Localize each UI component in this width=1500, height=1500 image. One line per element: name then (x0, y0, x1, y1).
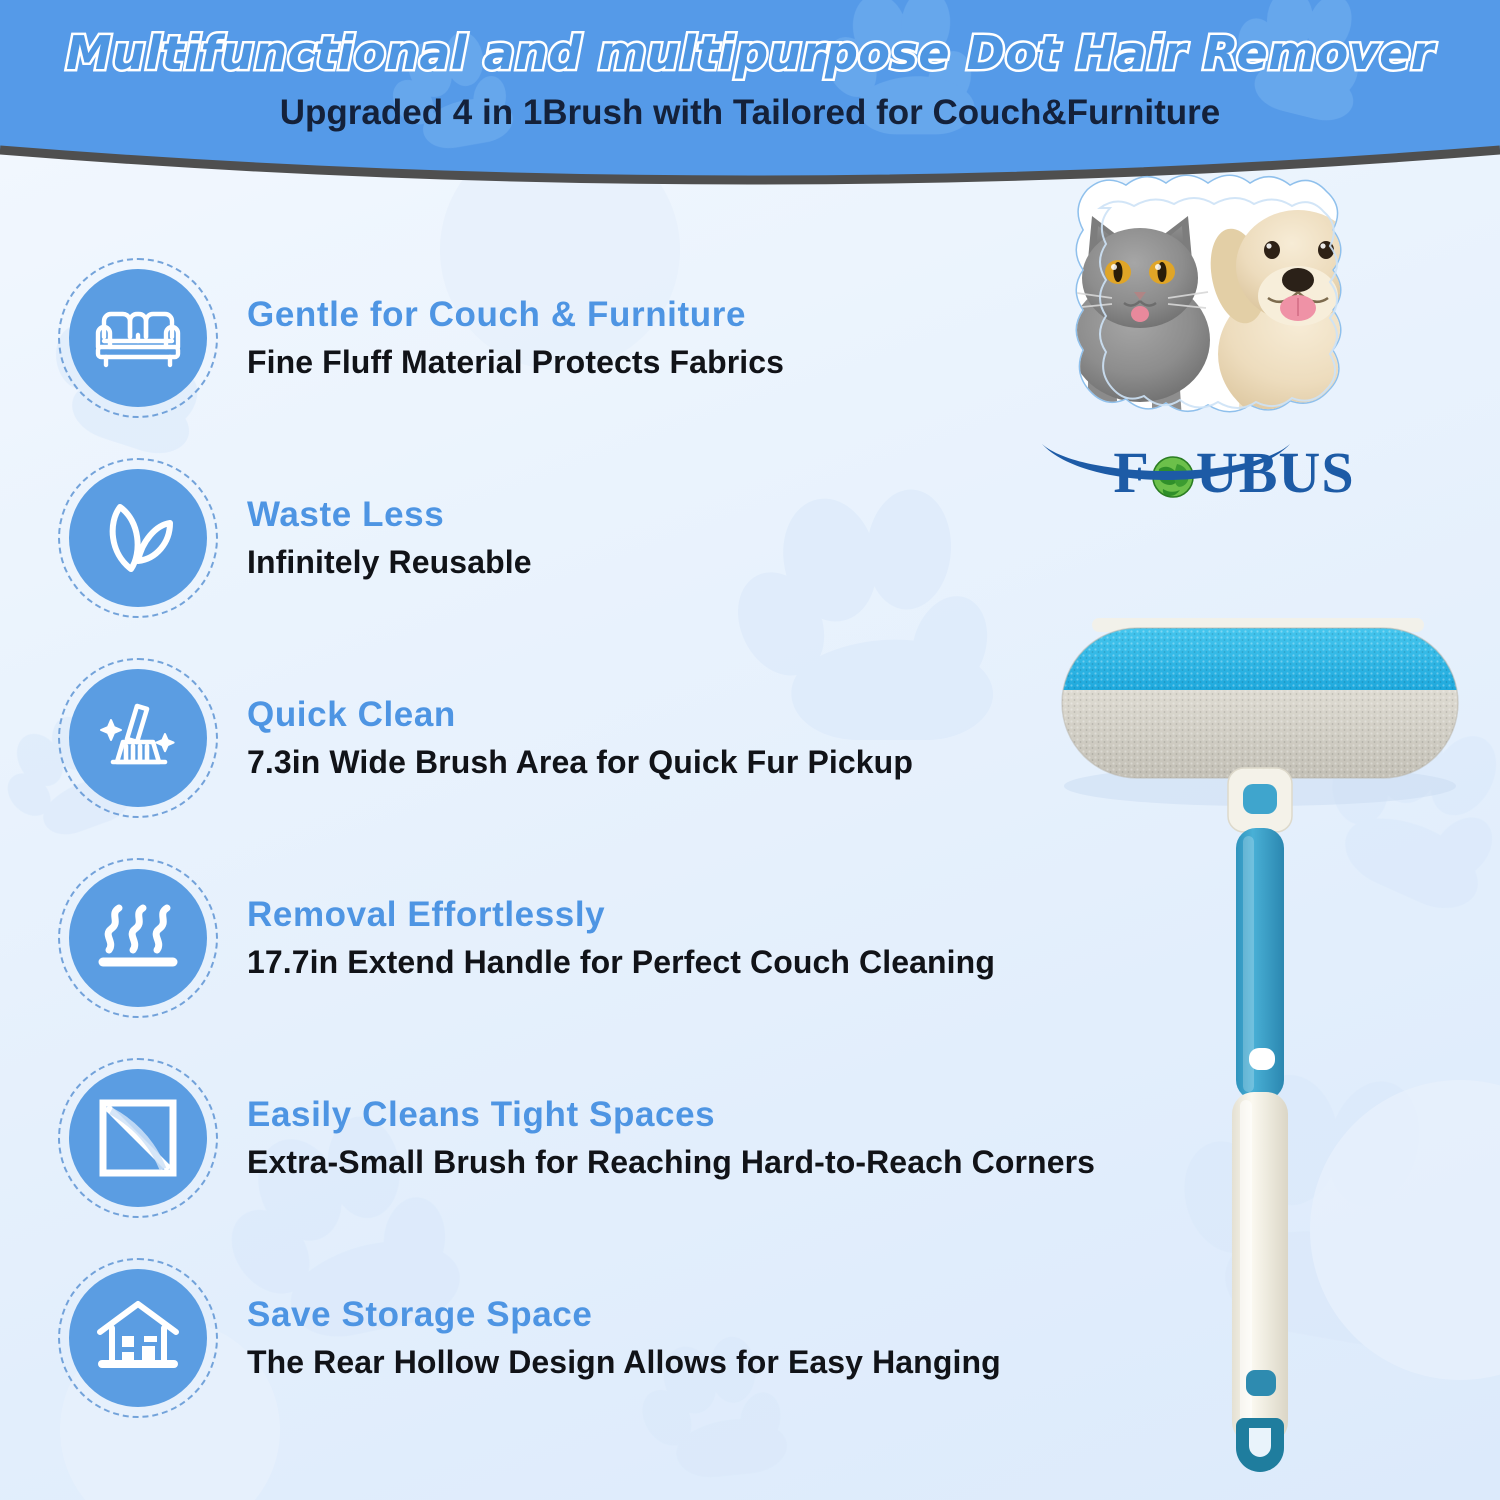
feature-row-quick-clean: Quick Clean 7.3in Wide Brush Area for Qu… (55, 638, 1055, 838)
broom-sparkle-icon-badge (55, 655, 221, 821)
feature-desc: Fine Fluff Material Protects Fabrics (247, 343, 784, 381)
feature-desc: Extra-Small Brush for Reaching Hard-to-R… (247, 1143, 1095, 1181)
corner-square-icon-badge (55, 1055, 221, 1221)
feature-title: Quick Clean (247, 695, 913, 734)
handle-lower (1232, 1092, 1288, 1444)
house-icon-badge (55, 1255, 221, 1421)
feature-desc: 7.3in Wide Brush Area for Quick Fur Pick… (247, 743, 913, 781)
feature-text: Removal Effortlessly 17.7in Extend Handl… (247, 895, 995, 982)
feature-row-gentle-for-couch: Gentle for Couch & Furniture Fine Fluff … (55, 238, 1055, 438)
feature-text: Waste Less Infinitely Reusable (247, 495, 532, 582)
feature-title: Easily Cleans Tight Spaces (247, 1095, 1095, 1134)
feature-title: Removal Effortlessly (247, 895, 995, 934)
broom-sparkle-icon (93, 698, 183, 778)
feature-desc: 17.7in Extend Handle for Perfect Couch C… (247, 943, 995, 981)
icon-disc (69, 269, 207, 407)
feature-text: Save Storage Space The Rear Hollow Desig… (247, 1295, 1001, 1382)
hanging-loop (1236, 1418, 1284, 1472)
feature-row-save-storage-space: Save Storage Space The Rear Hollow Desig… (55, 1238, 1055, 1438)
page-subtitle: Upgraded 4 in 1Brush with Tailored for C… (280, 93, 1221, 133)
logo-swoosh (1036, 440, 1296, 486)
feature-desc: Infinitely Reusable (247, 543, 532, 581)
feature-list: Gentle for Couch & Furniture Fine Fluff … (55, 238, 1055, 1438)
handle-upper-button[interactable] (1249, 1048, 1275, 1070)
feature-text: Easily Cleans Tight Spaces Extra-Small B… (247, 1095, 1095, 1182)
handle-upper (1236, 828, 1284, 1100)
feature-title: Gentle for Couch & Furniture (247, 295, 784, 334)
icon-disc (69, 869, 207, 1007)
feature-row-tight-spaces: Easily Cleans Tight Spaces Extra-Small B… (55, 1038, 1055, 1238)
feature-text: Gentle for Couch & Furniture Fine Fluff … (247, 295, 784, 382)
feature-title: Save Storage Space (247, 1295, 1001, 1334)
icon-disc (69, 669, 207, 807)
corner-square-icon (97, 1097, 179, 1179)
brand-logo: F UBUS (1036, 444, 1432, 502)
dot-hair-remover-brush (1040, 600, 1480, 1490)
icon-disc (69, 469, 207, 607)
leaves-icon (98, 501, 178, 575)
feature-desc: The Rear Hollow Design Allows for Easy H… (247, 1343, 1001, 1381)
infographic-page: Multifunctional and multipurpose Dot Hai… (0, 0, 1500, 1500)
feature-row-removal-effortlessly: Removal Effortlessly 17.7in Extend Handl… (55, 838, 1055, 1038)
leaves-icon-badge (55, 455, 221, 621)
page-title: Multifunctional and multipurpose Dot Hai… (66, 26, 1434, 80)
neck-button[interactable] (1243, 784, 1277, 814)
couch-icon-badge (55, 255, 221, 421)
feature-row-waste-less: Waste Less Infinitely Reusable (55, 438, 1055, 638)
icon-disc (69, 1269, 207, 1407)
brush-head (1062, 628, 1458, 778)
icon-disc (69, 1069, 207, 1207)
pet-photo-badge: F UBUS (1036, 168, 1432, 548)
product-image (1040, 600, 1480, 1490)
house-icon (94, 1298, 182, 1378)
handle-lower-button[interactable] (1246, 1370, 1276, 1396)
couch-icon (90, 303, 186, 373)
feature-title: Waste Less (247, 495, 532, 534)
steam-waves-icon (95, 902, 181, 974)
feature-text: Quick Clean 7.3in Wide Brush Area for Qu… (247, 695, 913, 782)
brush-neck (1228, 768, 1292, 832)
steam-waves-icon-badge (55, 855, 221, 1021)
